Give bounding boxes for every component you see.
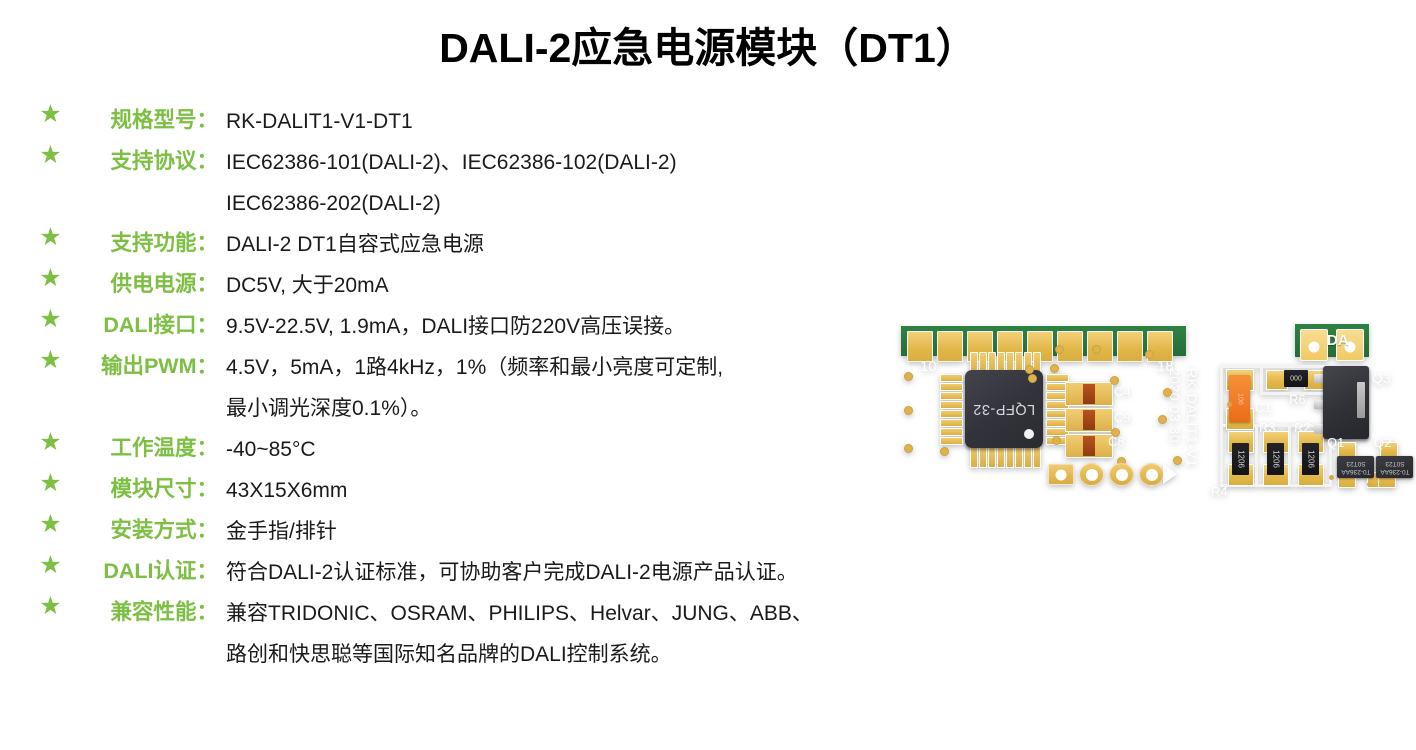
via: [904, 444, 913, 453]
mounting-pad-round: [1079, 463, 1104, 486]
capacitor-marking: 106: [1236, 393, 1243, 405]
spec-label: 模块尺寸：: [62, 470, 218, 508]
silkscreen-outline: [1220, 425, 1223, 487]
transistor-marking-line: T0-236AA: [1380, 468, 1409, 475]
star-icon: ★: [39, 595, 62, 618]
chip-lead: [940, 401, 963, 409]
via: [1025, 365, 1034, 374]
spec-label: 供电电源：: [62, 265, 218, 303]
transistor-marking: T0-236AA S0T23: [1341, 459, 1370, 475]
spec-value: RK-DALIT1-V1-DT1: [218, 101, 1000, 142]
pcb-module-image: DA 10 18 RK-DALIT1-V1 2020.03.30: [880, 312, 1408, 518]
silkscreen-r4: R4: [1211, 484, 1228, 499]
silkscreen-c1: C1: [1255, 400, 1272, 415]
spec-label: 工作温度：: [62, 429, 218, 467]
pad-hole: [1116, 469, 1128, 481]
spec-value: 符合DALI-2认证标准，可协助客户完成DALI-2电源产品认证。: [218, 552, 1000, 593]
chip-lead: [940, 428, 963, 436]
spec-row: ★ 输出PWM： 4.5V，5mA，1路4kHz，1%（频率和最小亮度可定制, …: [0, 347, 1000, 429]
spec-label: 安装方式：: [62, 511, 218, 549]
pad-hole: [1146, 469, 1158, 481]
pad-hole: [1056, 469, 1067, 480]
resistor-r6: 000: [1284, 370, 1308, 387]
transistor-marking-line: T0-236AA: [1341, 468, 1370, 475]
silkscreen-outline: [1220, 367, 1223, 425]
capacitor-body: [1083, 384, 1095, 404]
spec-value-line: 路创和快思聪等国际知名品牌的DALI控制系统。: [226, 634, 1000, 675]
chip-lead: [997, 445, 1005, 468]
star-bullet-cell: ★: [0, 224, 62, 249]
spec-value-line: 兼容TRIDONIC、OSRAM、PHILIPS、Helvar、JUNG、ABB…: [226, 593, 1000, 634]
da-pad-hole: [1309, 341, 1320, 352]
star-bullet-cell: ★: [0, 142, 62, 167]
star-bullet-cell: ★: [0, 470, 62, 495]
capacitor-c1: 106: [1229, 375, 1250, 422]
pin1-triangle-marker: [1163, 464, 1177, 484]
mounting-pad-round: [1139, 463, 1164, 486]
chip-lead: [940, 410, 963, 418]
star-icon: ★: [39, 513, 62, 536]
chip-lead: [940, 383, 963, 391]
chip-lead: [1015, 445, 1023, 468]
via: [1110, 376, 1119, 385]
capacitor-body: [1083, 410, 1095, 430]
resistor-r2: 1206: [1302, 443, 1319, 475]
spec-label: 支持功能：: [62, 224, 218, 262]
star-icon: ★: [39, 431, 62, 454]
star-bullet-cell: ★: [0, 593, 62, 618]
star-icon: ★: [39, 267, 62, 290]
spec-value-line: RK-DALIT1-V1-DT1: [226, 101, 1000, 142]
via: [1145, 350, 1154, 359]
spec-row: ★ 安装方式： 金手指/排针: [0, 511, 1000, 552]
chip-lead: [940, 374, 963, 382]
star-bullet-cell: ★: [0, 265, 62, 290]
silkscreen-outline: [1220, 365, 1328, 368]
resistor-r3: 1206: [1267, 443, 1284, 475]
capacitor-body: [1083, 436, 1095, 456]
silkscreen-c4: C4: [1114, 384, 1131, 399]
silkscreen-board-date: 2020.03.30: [1167, 368, 1183, 443]
via: [904, 406, 913, 415]
spec-row: ★ 支持功能： DALI-2 DT1自容式应急电源: [0, 224, 1000, 265]
transistor-q1: T0-236AA S0T23: [1337, 456, 1374, 478]
da-silkscreen-label: DA: [1327, 332, 1349, 349]
spec-row: ★ 工作温度： -40~85°C: [0, 429, 1000, 470]
star-icon: ★: [39, 144, 62, 167]
silkscreen-outline: [1260, 365, 1263, 395]
capacitor-c8: [1065, 434, 1113, 458]
spec-row: ★ 模块尺寸： 43X15X6mm: [0, 470, 1000, 511]
chip-lead: [988, 445, 996, 468]
star-icon: ★: [39, 472, 62, 495]
transistor-marking-line: S0T23: [1346, 460, 1365, 467]
star-bullet-cell: ★: [0, 101, 62, 126]
da-pad: [1300, 329, 1328, 361]
spec-value-line: IEC62386-202(DALI-2): [226, 183, 1000, 224]
product-spec-page: DALI-2应急电源模块（DT1） ★ 规格型号： RK-DALIT1-V1-D…: [0, 0, 1416, 750]
pad-hole: [1086, 469, 1098, 481]
spec-row: ★ 支持协议： IEC62386-101(DALI-2)、IEC62386-10…: [0, 142, 1000, 224]
solder-dot: [1227, 402, 1232, 407]
star-icon: ★: [39, 308, 62, 331]
via: [1158, 415, 1167, 424]
spec-label: DALI认证：: [62, 552, 218, 590]
spec-row: ★ 供电电源： DC5V, 大于20mA: [0, 265, 1000, 306]
star-icon: ★: [39, 349, 62, 372]
silkscreen-r2: R2: [1294, 420, 1311, 435]
spec-value-line: 符合DALI-2认证标准，可协助客户完成DALI-2电源产品认证。: [226, 552, 1000, 593]
gold-finger-pad: [937, 331, 963, 362]
spec-label: 规格型号：: [62, 101, 218, 139]
via: [904, 372, 913, 381]
spec-value: IEC62386-101(DALI-2)、IEC62386-102(DALI-2…: [218, 142, 1000, 224]
spec-label: 兼容性能：: [62, 593, 218, 631]
specification-list: ★ 规格型号： RK-DALIT1-V1-DT1 ★ 支持协议： IEC6238…: [0, 101, 1000, 675]
star-bullet-cell: ★: [0, 429, 62, 454]
spec-row: ★ DALI认证： 符合DALI-2认证标准，可协助客户完成DALI-2电源产品…: [0, 552, 1000, 593]
ic-q3: [1323, 366, 1369, 439]
star-bullet-cell: ★: [0, 347, 62, 372]
chip-lead: [1046, 374, 1069, 382]
spec-label: 输出PWM：: [62, 347, 218, 385]
silkscreen-c9: C9: [1114, 410, 1131, 425]
via: [940, 447, 949, 456]
chip-lead: [979, 445, 987, 468]
solder-dot: [1329, 475, 1334, 480]
resistor-value: 1206: [1306, 450, 1315, 468]
via: [1163, 388, 1172, 397]
via: [1052, 436, 1061, 445]
solder-dot: [1367, 482, 1372, 487]
chip-lead: [970, 445, 978, 468]
silkscreen-outline: [1255, 425, 1258, 487]
spec-value: 兼容TRIDONIC、OSRAM、PHILIPS、Helvar、JUNG、ABB…: [218, 593, 1000, 675]
chip-pin1-dot: [1024, 429, 1034, 439]
via: [1055, 345, 1064, 354]
silkscreen-q1: Q1: [1327, 435, 1344, 450]
via: [1092, 345, 1101, 354]
silkscreen-q2: Q2: [1374, 435, 1391, 450]
silkscreen-board-name: RK-DALIT1-V1: [1184, 368, 1200, 467]
star-bullet-cell: ★: [0, 552, 62, 577]
mounting-pad-square: [1048, 464, 1074, 485]
via: [1028, 374, 1037, 383]
via: [1050, 364, 1059, 373]
chip-lead: [1024, 445, 1032, 468]
spec-value: DALI-2 DT1自容式应急电源: [218, 224, 1000, 265]
resistor-value: 1206: [1271, 450, 1280, 468]
star-bullet-cell: ★: [0, 306, 62, 331]
chip-lead: [1033, 445, 1041, 468]
spec-row: ★ 兼容性能： 兼容TRIDONIC、OSRAM、PHILIPS、Helvar、…: [0, 593, 1000, 675]
chip-lead: [1006, 445, 1014, 468]
star-icon: ★: [39, 103, 62, 126]
silkscreen-q3: Q3: [1372, 370, 1391, 386]
star-icon: ★: [39, 226, 62, 249]
gold-finger-pad: [1117, 331, 1143, 362]
spec-label: 支持协议：: [62, 142, 218, 180]
star-bullet-cell: ★: [0, 511, 62, 536]
resistor-r4: 1206: [1232, 443, 1249, 475]
silkscreen-r3: R3: [1259, 420, 1276, 435]
ic-heat-tab: [1357, 382, 1365, 418]
chip-marking-text: LQFP-32: [973, 401, 1035, 417]
spec-row: ★ DALI接口： 9.5V-22.5V, 1.9mA，DALI接口防220V高…: [0, 306, 1000, 347]
capacitor-c9: [1065, 408, 1113, 432]
page-title: DALI-2应急电源模块（DT1）: [0, 14, 1416, 74]
spec-value: DC5V, 大于20mA: [218, 265, 1000, 306]
spec-value-line: IEC62386-101(DALI-2)、IEC62386-102(DALI-2…: [226, 142, 1000, 183]
capacitor-c4: [1065, 382, 1113, 406]
silkscreen-pin-10: 10: [920, 358, 937, 375]
pcb-board: DA 10 18 RK-DALIT1-V1 2020.03.30: [880, 312, 1408, 518]
spec-value-line: DC5V, 大于20mA: [226, 265, 1000, 306]
chip-lead: [940, 419, 963, 427]
chip-lead: [940, 437, 963, 445]
spec-label: DALI接口：: [62, 306, 218, 344]
spec-row: ★ 规格型号： RK-DALIT1-V1-DT1: [0, 101, 1000, 142]
spec-value-line: DALI-2 DT1自容式应急电源: [226, 224, 1000, 265]
star-icon: ★: [39, 554, 62, 577]
transistor-marking-line: S0T23: [1385, 460, 1404, 467]
transistor-marking: T0-236AA S0T23: [1380, 459, 1409, 475]
silkscreen-r6: R6: [1289, 392, 1306, 407]
via: [1111, 428, 1120, 437]
transistor-q2: T0-236AA S0T23: [1376, 456, 1413, 478]
mounting-pad-round: [1109, 463, 1134, 486]
chip-lead: [940, 392, 963, 400]
resistor-value: 1206: [1236, 450, 1245, 468]
resistor-value: 000: [1290, 375, 1302, 382]
